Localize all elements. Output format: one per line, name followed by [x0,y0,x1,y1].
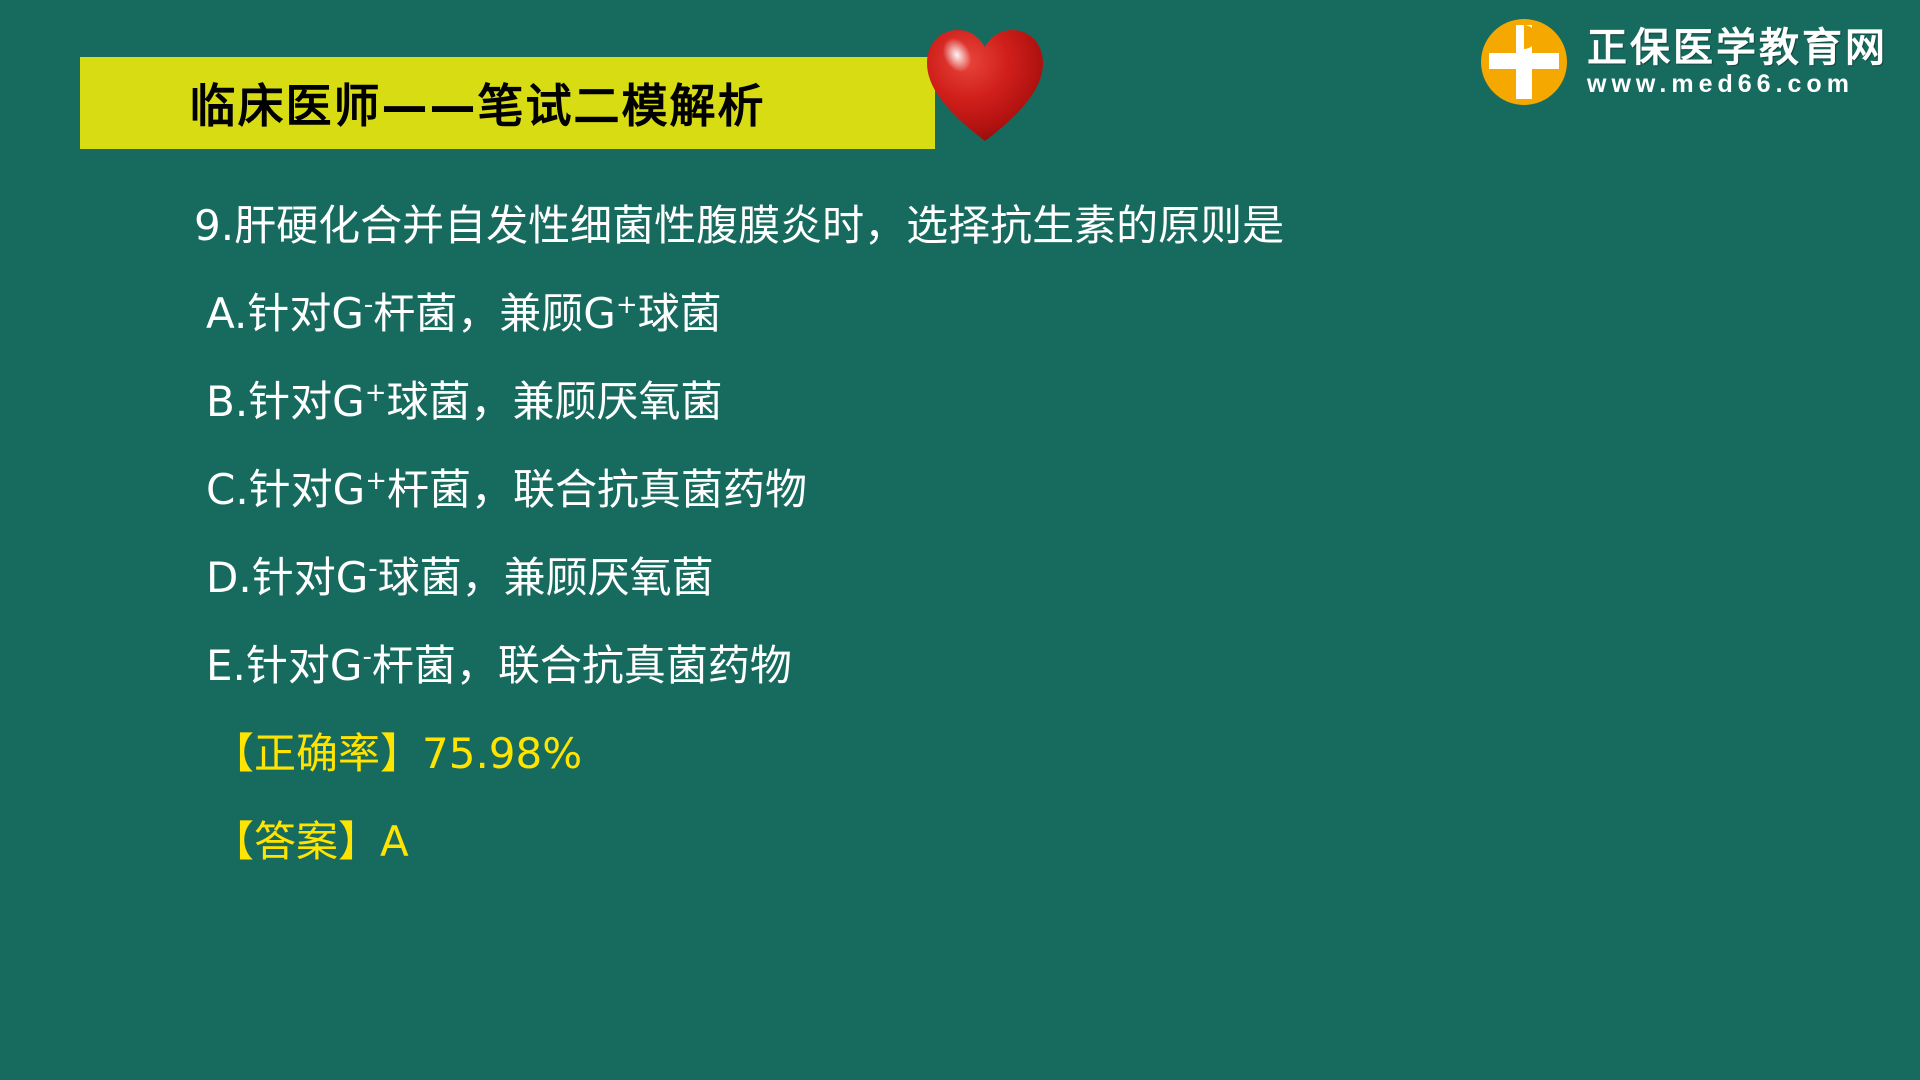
medical-cross-circle-icon [1479,17,1569,107]
option-a: A.针对G-杆菌，兼顾G+球菌 [206,270,1706,358]
logo-brand-name: 正保医学教育网 [1587,27,1888,69]
accuracy-rate: 【正确率】75.98% [212,710,1706,798]
option-c-text-pre: C.针对G [206,465,365,514]
option-b-text-mid: 球菌，兼顾厌氧菌 [387,377,723,426]
logo-wordmark: 正保医学教育网 www.med66.com [1587,27,1888,97]
correct-answer: 【答案】A [212,798,1706,886]
option-d-text-pre: D.针对G [206,553,368,602]
option-c-superscript-1: + [365,466,387,496]
question-stem: 9.肝硬化合并自发性细菌性腹膜炎时，选择抗生素的原则是 [194,182,1706,270]
option-b-text-pre: B.针对G [206,377,365,426]
option-c: C.针对G+杆菌，联合抗真菌药物 [206,446,1706,534]
option-d-text-mid: 球菌，兼顾厌氧菌 [378,553,714,602]
logo-website-url: www.med66.com [1587,71,1888,97]
option-e-text-pre: E.针对G [206,641,362,690]
option-d-superscript-1: - [368,554,377,584]
brand-logo: 正保医学教育网 www.med66.com [1479,14,1888,110]
page-title: 临床医师——笔试二模解析 [80,57,935,149]
option-e-text-mid: 杆菌，联合抗真菌药物 [372,641,792,690]
option-b-superscript-1: + [365,378,387,408]
option-a-text-pre: A.针对G [206,289,364,338]
option-b: B.针对G+球菌，兼顾厌氧菌 [206,358,1706,446]
question-block: 9.肝硬化合并自发性细菌性腹膜炎时，选择抗生素的原则是 A.针对G-杆菌，兼顾G… [206,182,1706,886]
title-banner: 临床医师——笔试二模解析 [80,57,935,149]
option-a-superscript-2: + [616,290,638,320]
option-a-text-mid: 杆菌，兼顾G [373,289,616,338]
option-a-superscript-1: - [364,290,373,320]
option-d: D.针对G-球菌，兼顾厌氧菌 [206,534,1706,622]
option-a-text-end: 球菌 [638,289,722,338]
option-e-superscript-1: - [362,642,371,672]
slide-canvas: 临床医师——笔试二模解析 [0,0,1920,1080]
option-e: E.针对G-杆菌，联合抗真菌药物 [206,622,1706,710]
heart-icon [925,27,1045,145]
option-c-text-mid: 杆菌，联合抗真菌药物 [387,465,807,514]
